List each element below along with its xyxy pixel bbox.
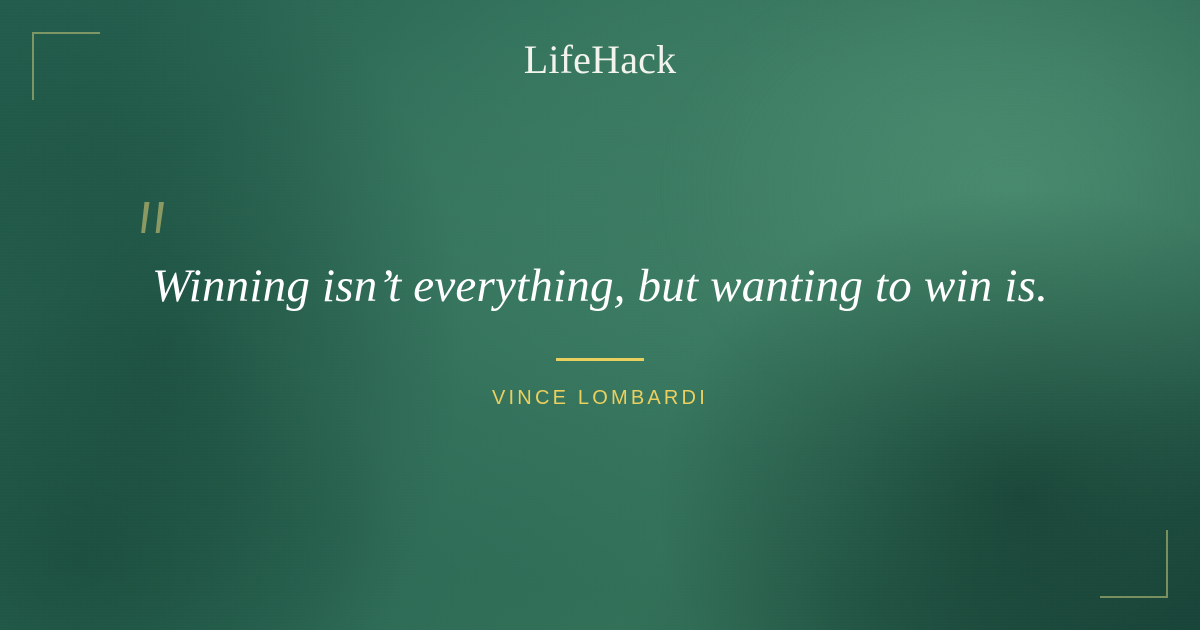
corner-bracket-bottom-right-icon: [1100, 530, 1168, 598]
quote-text: Winning isn’t everything, but wanting to…: [90, 258, 1110, 315]
quote-author: VINCE LOMBARDI: [0, 388, 1200, 408]
quote-card: LifeHack Winning isn’t everything, but w…: [0, 0, 1200, 630]
brand-logo[interactable]: LifeHack: [0, 40, 1200, 80]
divider: [556, 358, 644, 361]
quote-text-container: Winning isn’t everything, but wanting to…: [0, 258, 1200, 315]
double-quote-icon: [134, 200, 176, 242]
